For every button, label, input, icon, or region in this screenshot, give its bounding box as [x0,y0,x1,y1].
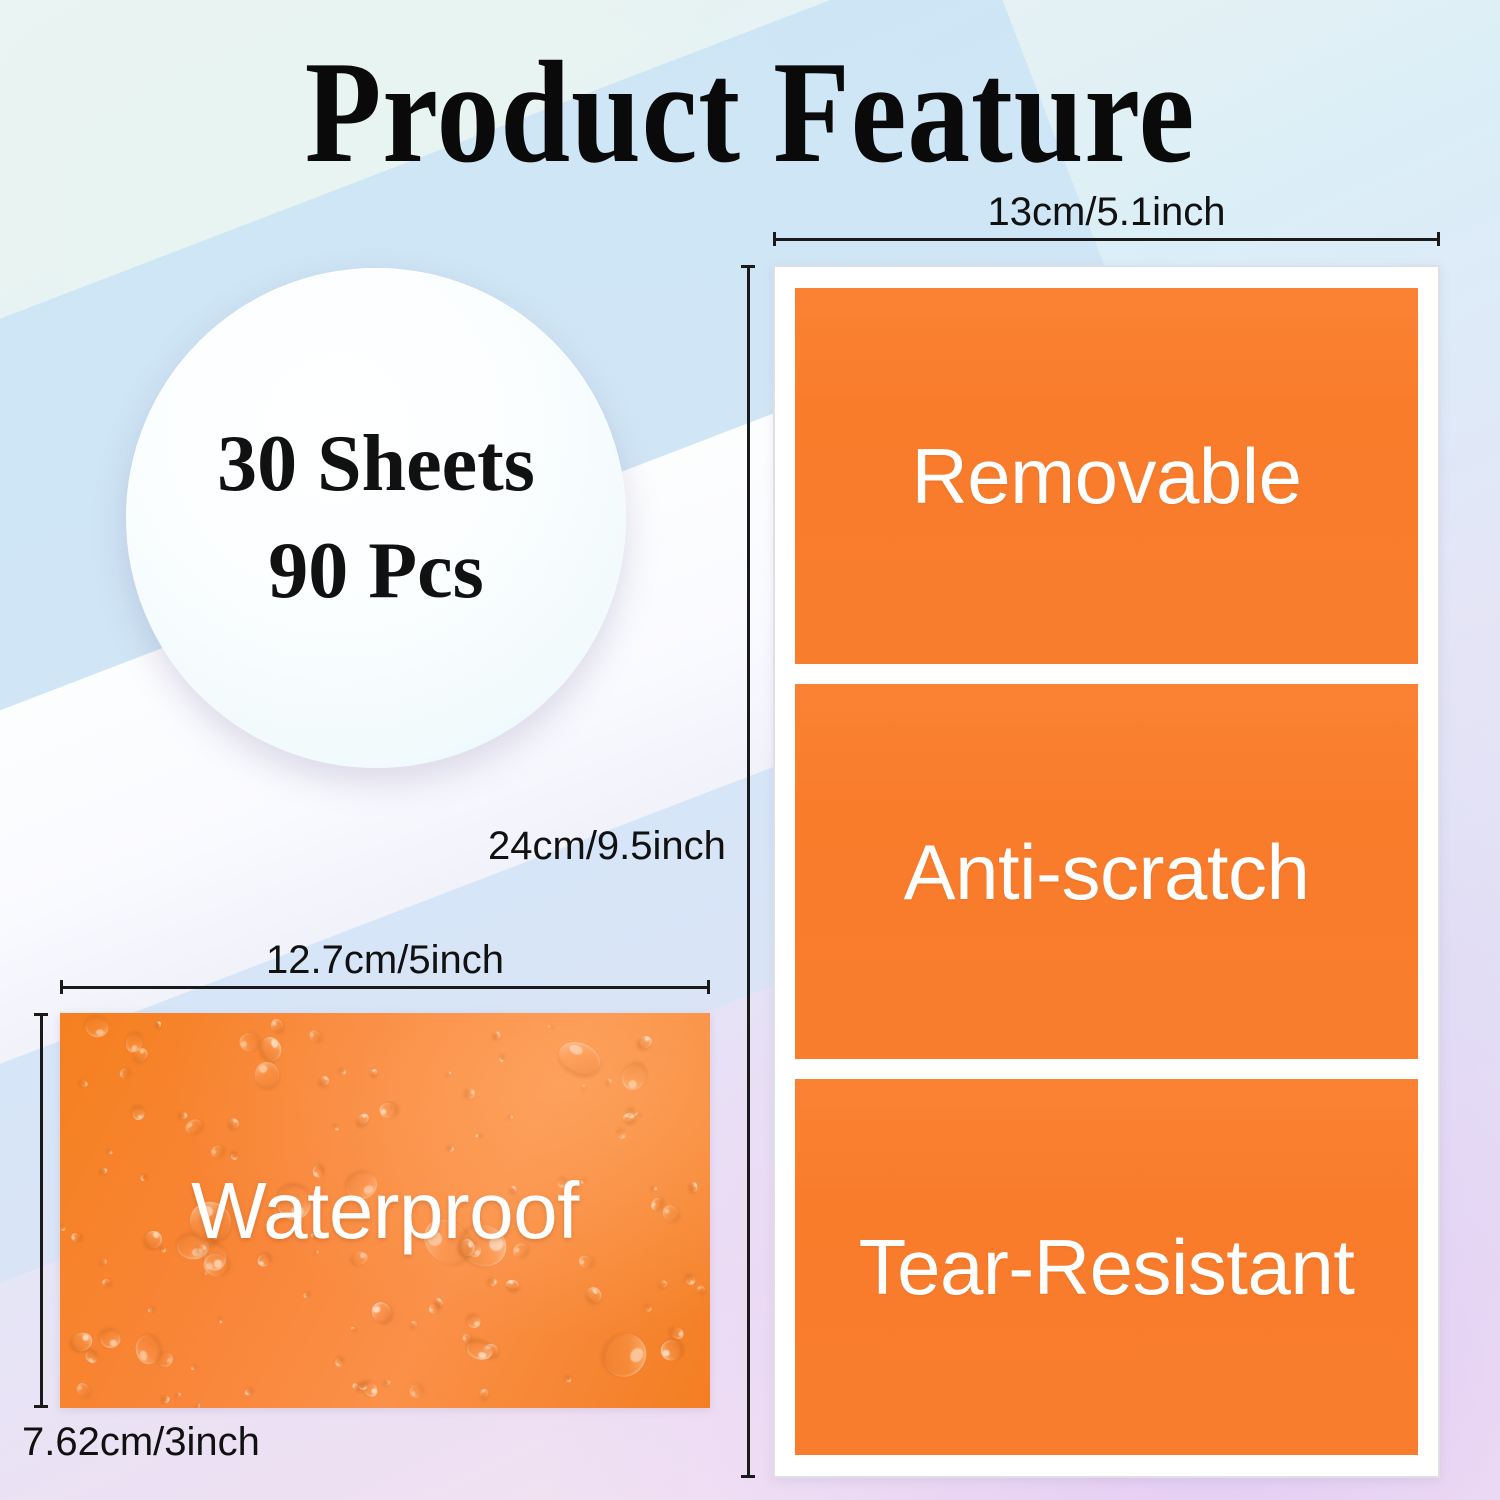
dimension-bar [40,1013,43,1408]
water-droplet [340,1068,347,1075]
sheet-card-large: Removable Anti-scratch Tear-Resistant [773,265,1440,1478]
water-droplet [606,1077,613,1085]
dimension-line-right-height [741,265,755,1478]
water-droplet [670,1325,687,1341]
water-droplet [576,1253,594,1271]
water-droplet [554,1036,605,1081]
dimension-bar [60,986,710,989]
water-droplet [466,1313,483,1329]
water-droplet [635,1112,639,1116]
water-droplet [101,1259,107,1264]
dimension-cap-right [707,980,710,994]
water-droplet [118,1067,129,1080]
water-droplet [147,1307,152,1312]
feature-panel-anti-scratch: Anti-scratch [795,684,1418,1060]
water-droplet [370,1068,378,1077]
water-droplet [204,1272,208,1275]
water-droplet [696,1286,704,1294]
water-droplet [505,1279,519,1292]
water-droplet [617,1060,651,1095]
feature-label: Removable [911,437,1301,515]
water-droplet [448,1145,455,1152]
water-droplet [355,1111,371,1127]
dimension-line-water-height [34,1013,48,1408]
feature-panel-removable: Removable [795,288,1418,664]
water-droplet [617,1129,627,1139]
badge-pieces-count: 90 Pcs [268,518,484,625]
water-droplet [494,1030,501,1038]
water-droplet [84,1349,100,1365]
water-droplet [465,1338,494,1362]
water-droplet [318,1075,330,1087]
dimension-cap-right [1437,232,1440,246]
water-droplet [256,1252,272,1268]
water-droplet [156,1021,162,1028]
water-droplet [335,1125,339,1130]
water-droplet [428,1304,438,1313]
dimension-bar [747,265,750,1478]
water-droplet [351,1327,356,1331]
water-droplet [219,1319,223,1323]
water-droplet [658,1279,668,1288]
water-droplet [70,1331,95,1353]
water-droplet [509,1114,514,1119]
dimension-line-right-width [773,232,1440,246]
water-droplet [565,1376,571,1382]
water-droplet [547,1024,551,1028]
water-droplet [369,1299,395,1326]
water-droplet [190,1365,195,1370]
water-droplet [409,1319,418,1328]
water-droplet [269,1017,284,1033]
feature-label: Anti-scratch [904,833,1310,911]
water-droplet [86,1016,110,1038]
page-title: Product Feature [105,38,1395,187]
dimension-label-water-width: 12.7cm/5inch [60,938,710,983]
water-droplet [230,1153,239,1161]
water-droplet [488,1277,498,1287]
water-droplet [100,1329,122,1348]
water-droplet [163,1396,171,1405]
water-droplet [244,1389,252,1397]
water-droplet [646,1305,653,1312]
water-droplet [177,1393,181,1397]
dimension-bar [773,238,1440,241]
water-droplet [409,1385,424,1399]
water-droplet [584,1284,605,1305]
badge-sheets-count: 30 Sheets [217,411,535,518]
water-droplet [448,1071,451,1075]
dimension-line-water-width [60,980,710,994]
water-droplet [333,1356,344,1368]
water-droplet [475,1133,480,1138]
water-droplet [384,1380,390,1386]
water-droplet [196,1403,200,1408]
water-droplet [479,1388,490,1400]
dimension-label-right-width: 13cm/5.1inch [773,190,1440,235]
dimension-label-water-height: 7.62cm/3inch [22,1420,260,1465]
water-droplet [183,1117,205,1137]
water-droplet [255,1062,279,1088]
feature-label: Tear-Resistant [859,1228,1355,1306]
water-droplet [304,1294,310,1299]
water-droplet [378,1102,398,1120]
dimension-cap-bottom [34,1405,48,1408]
water-droplet [596,1326,654,1385]
quantity-badge: 30 Sheets 90 Pcs [126,268,626,768]
dimension-cap-bottom [741,1475,755,1478]
feature-panel-tear-resistant: Tear-Resistant [795,1079,1418,1455]
water-droplet [107,1149,113,1155]
feature-label: Waterproof [60,1171,710,1251]
water-droplet [179,1112,188,1121]
water-droplet [227,1117,240,1131]
water-droplet [465,1087,476,1099]
water-droplet [307,1028,323,1044]
feature-panel-waterproof: Waterproof [60,1013,710,1408]
water-droplet [686,1276,696,1285]
water-droplet [238,1032,260,1053]
water-droplet [581,1084,585,1088]
water-droplet [498,1056,505,1063]
infographic-canvas: Product Feature 30 Sheets 90 Pcs 13cm/5.… [0,0,1500,1500]
water-droplet [79,1079,89,1088]
water-droplet [101,1277,111,1287]
dimension-label-right-height: 24cm/9.5inch [488,824,726,869]
water-droplet [209,1143,225,1159]
water-droplet [660,1340,682,1362]
water-droplet [74,1381,90,1398]
water-droplet [132,1107,145,1121]
water-droplet [636,1034,654,1051]
water-droplet [257,1034,285,1064]
